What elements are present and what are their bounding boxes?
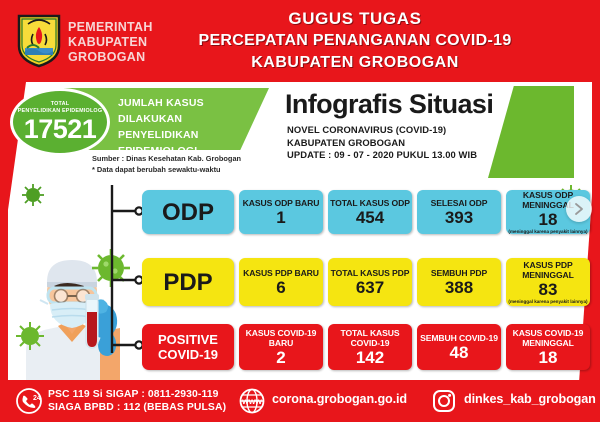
stat-value: 2 [276,348,285,367]
poster-footer: 24 PSC 119 Si SIGAP : 0811-2930-119 SIAG… [0,380,600,422]
infographic-poster: PEMERINTAH KABUPATEN GROBOGAN GUGUS TUGA… [0,0,600,422]
virus-particle-icon [20,182,46,213]
category-odp-text: ODP [162,199,214,226]
phone-24h-icon: 24 [16,388,42,414]
stat-covid-new: KASUS COVID-19 BARU 2 [239,324,323,370]
stat-odp-finished: SELESAI ODP 393 [417,190,501,234]
stat-pdp-recovered: SEMBUH PDP 388 [417,258,501,306]
stat-pdp-total: TOTAL KASUS PDP 637 [328,258,412,306]
source-line-2: * Data dapat berubah sewaktu-waktu [92,165,272,176]
stat-title: KASUS COVID-19 BARU [240,328,322,348]
title-line-1: GUGUS TUGAS [140,8,570,30]
grobogan-regency-emblem-icon [16,12,62,68]
stat-title: SEMBUH COVID-19 [420,333,498,343]
data-row-odp: ODP KASUS ODP BARU 1 TOTAL KASUS ODP 454… [142,190,590,234]
stat-covid-deceased: KASUS COVID-19 MENINGGAL 18 [506,324,590,370]
title-line-2: PERCEPATAN PENANGANAN COVID-19 [140,30,570,52]
instagram-icon [432,389,456,413]
circle-label-line-1: TOTAL [51,101,69,108]
category-label-odp: ODP [142,190,234,234]
stat-odp-new: KASUS ODP BARU 1 [239,190,323,234]
category-covid-line-1: POSITIVE [158,332,218,347]
subtitle-line-2: KABUPATEN GROBOGAN [287,137,547,150]
instagram-handle[interactable]: dinkes_kab_grobogan [464,392,596,406]
stat-note: (meninggal karena penyakit lainnya) [508,299,587,305]
total-epidemiology-circle: TOTAL PENYELIDIKAN EPIDEMIOLOG 17521 [10,88,110,156]
stat-title: KASUS PDP BARU [243,268,319,278]
data-row-pdp: PDP KASUS PDP BARU 6 TOTAL KASUS PDP 637… [142,258,590,306]
poster-header: PEMERINTAH KABUPATEN GROBOGAN GUGUS TUGA… [0,0,600,82]
stat-pdp-new: KASUS PDP BARU 6 [239,258,323,306]
stat-value: 454 [356,208,384,227]
data-row-covid19: POSITIVE COVID-19 KASUS COVID-19 BARU 2 … [142,324,590,370]
stat-value: 18 [539,210,558,229]
task-force-title: GUGUS TUGAS PERCEPATAN PENANGANAN COVID-… [140,8,570,74]
stat-value: 48 [450,343,469,362]
stat-value: 18 [539,348,558,367]
title-line-3: KABUPATEN GROBOGAN [140,52,570,74]
svg-text:24: 24 [33,395,41,402]
stat-pdp-deceased: KASUS PDP MENINGGAL 83 (meninggal karena… [506,258,590,306]
stat-value: 6 [276,278,285,297]
stat-note: (meninggal karena penyakit lainnya) [508,229,587,235]
website-url[interactable]: corona.grobogan.go.id [272,392,407,406]
stat-odp-total: TOTAL KASUS ODP 454 [328,190,412,234]
stat-title: SEMBUH PDP [431,268,487,278]
subtitle-line-1: NOVEL CORONAVIRUS (COVID-19) [287,124,547,137]
total-epidemiology-value: 17521 [24,115,97,143]
svg-text:www: www [241,396,262,406]
phone-line-1: PSC 119 Si SIGAP : 0811-2930-119 [48,389,226,402]
virus-particle-icon [16,322,44,350]
stat-title: SELESAI ODP [431,198,488,208]
emergency-phone-numbers: PSC 119 Si SIGAP : 0811-2930-119 SIAGA B… [48,389,226,414]
stat-value: 1 [276,208,285,227]
stat-title: TOTAL KASUS COVID-19 [329,328,411,348]
source-line-1: Sumber : Dinas Kesehatan Kab. Grobogan [92,154,272,165]
category-covid-line-2: COVID-19 [158,347,218,362]
chevron-right-icon [573,202,585,216]
stat-covid-total: TOTAL KASUS COVID-19 142 [328,324,412,370]
stat-covid-recovered: SEMBUH COVID-19 48 [417,324,501,370]
stat-value: 142 [356,348,384,367]
data-source-note: Sumber : Dinas Kesehatan Kab. Grobogan *… [92,154,272,175]
stat-title: TOTAL KASUS PDP [331,268,410,278]
stat-title: KASUS ODP BARU [243,198,320,208]
stat-title: TOTAL KASUS ODP [330,198,410,208]
category-label-positive-covid19: POSITIVE COVID-19 [142,324,234,370]
stat-value: 637 [356,278,384,297]
stat-value: 83 [539,280,558,299]
banner-line-1: JUMLAH KASUS DILAKUKAN [118,95,268,127]
category-label-pdp: PDP [142,258,234,306]
stat-value: 388 [445,278,473,297]
www-globe-icon: www [238,388,266,414]
infographic-subtitle: NOVEL CORONAVIRUS (COVID-19) KABUPATEN G… [287,124,547,162]
carousel-next-button[interactable] [566,196,592,222]
update-timestamp: UPDATE : 09 - 07 - 2020 PUKUL 13.00 WIB [287,149,547,162]
stat-title: KASUS PDP MENINGGAL [507,260,589,280]
stat-value: 393 [445,208,473,227]
category-pdp-text: PDP [163,269,212,296]
stat-title: KASUS COVID-19 MENINGGAL [507,328,589,348]
phone-line-2: SIAGA BPBD : 112 (BEBAS PULSA) [48,402,226,415]
infographic-title: Infografis Situasi [285,88,493,120]
